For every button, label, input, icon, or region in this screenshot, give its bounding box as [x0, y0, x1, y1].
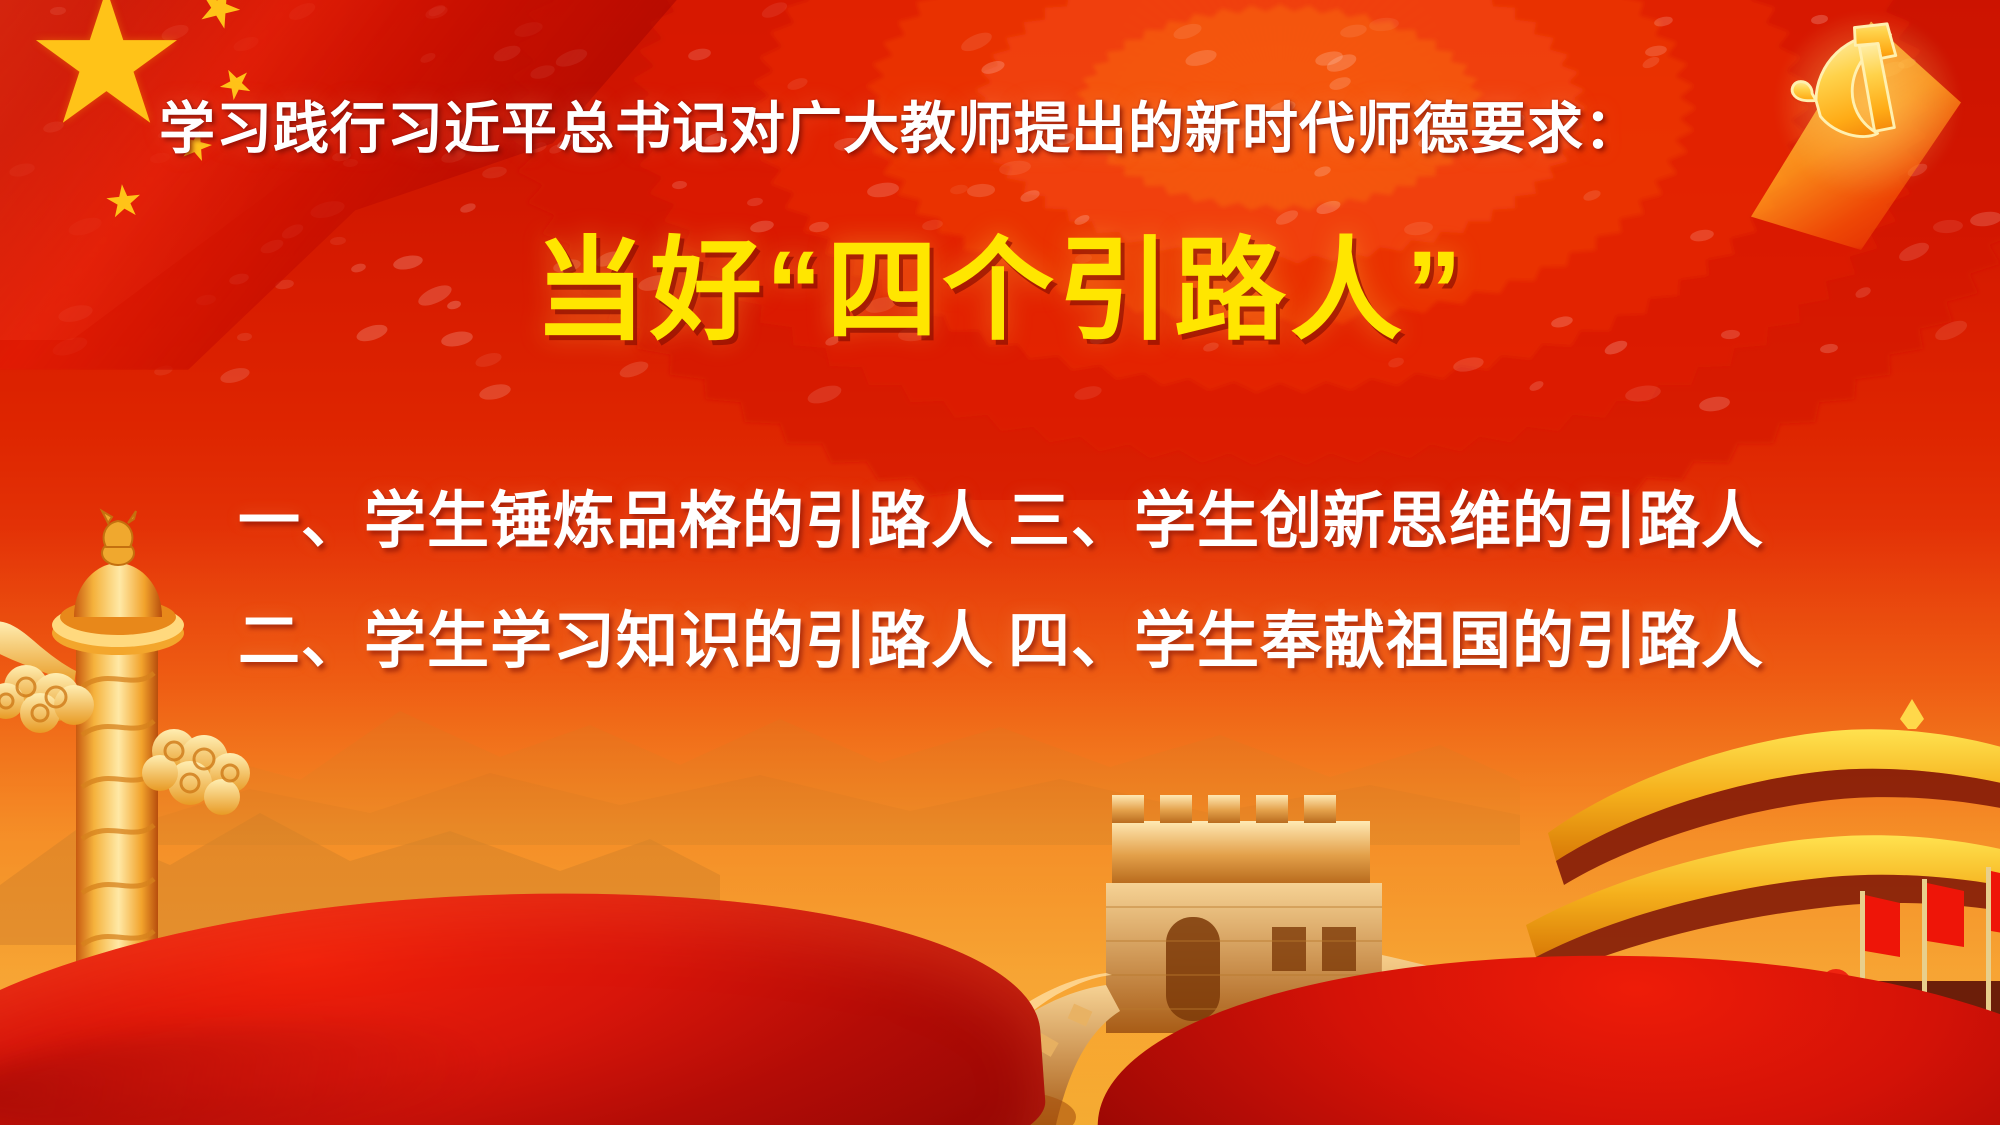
- guides-row-1: 一、学生锤炼品格的引路人 三、学生创新思维的引路人: [238, 470, 1798, 560]
- confetti-dot: [1339, 22, 1368, 39]
- confetti-dot: [1368, 17, 1399, 33]
- confetti-dot: [617, 359, 649, 381]
- confetti-dot: [980, 59, 1006, 77]
- guides-list: 一、学生锤炼品格的引路人 三、学生创新思维的引路人 二、学生学习知识的引路人 四…: [238, 470, 1798, 710]
- confetti-dot: [1313, 165, 1332, 179]
- confetti-dot: [805, 382, 843, 407]
- confetti-dot: [671, 180, 687, 190]
- hammer-and-sickle-icon: [1778, 0, 1956, 168]
- confetti-dot: [219, 365, 251, 385]
- confetti-dot: [967, 183, 996, 198]
- guides-row-2: 二、学生学习知识的引路人 四、学生奉献祖国的引路人: [238, 590, 1798, 680]
- confetti-dot: [1698, 395, 1731, 413]
- confetti-dot: [949, 183, 968, 195]
- confetti-dot: [1624, 384, 1662, 405]
- confetti-dot: [866, 181, 899, 199]
- confetti-dot: [1073, 384, 1103, 402]
- confetti-dot: [759, 0, 789, 21]
- confetti-dot: [687, 47, 711, 62]
- guide-item-3: 三、学生创新思维的引路人: [1008, 470, 1788, 560]
- confetti-dot: [481, 165, 507, 181]
- poster-canvas: ★ ★ ★ ★ ★: [0, 0, 2000, 1125]
- confetti-dot: [1184, 47, 1218, 68]
- confetti-dot: [1641, 55, 1662, 71]
- confetti-dot: [1172, 21, 1203, 42]
- guide-item-2: 二、学生学习知识的引路人: [238, 590, 1008, 680]
- confetti-dot: [1653, 15, 1674, 28]
- page-title: 当好“四个引路人”: [0, 200, 2000, 362]
- confetti-dot: [478, 382, 512, 403]
- guide-item-1: 一、学生锤炼品格的引路人: [238, 470, 1008, 560]
- confetti-dot: [959, 29, 994, 55]
- headline-text: 学习践行习近平总书记对广大教师提出的新时代师德要求：: [0, 84, 1800, 165]
- confetti-dot: [1528, 379, 1545, 393]
- guide-item-4: 四、学生奉献祖国的引路人: [1008, 590, 1788, 680]
